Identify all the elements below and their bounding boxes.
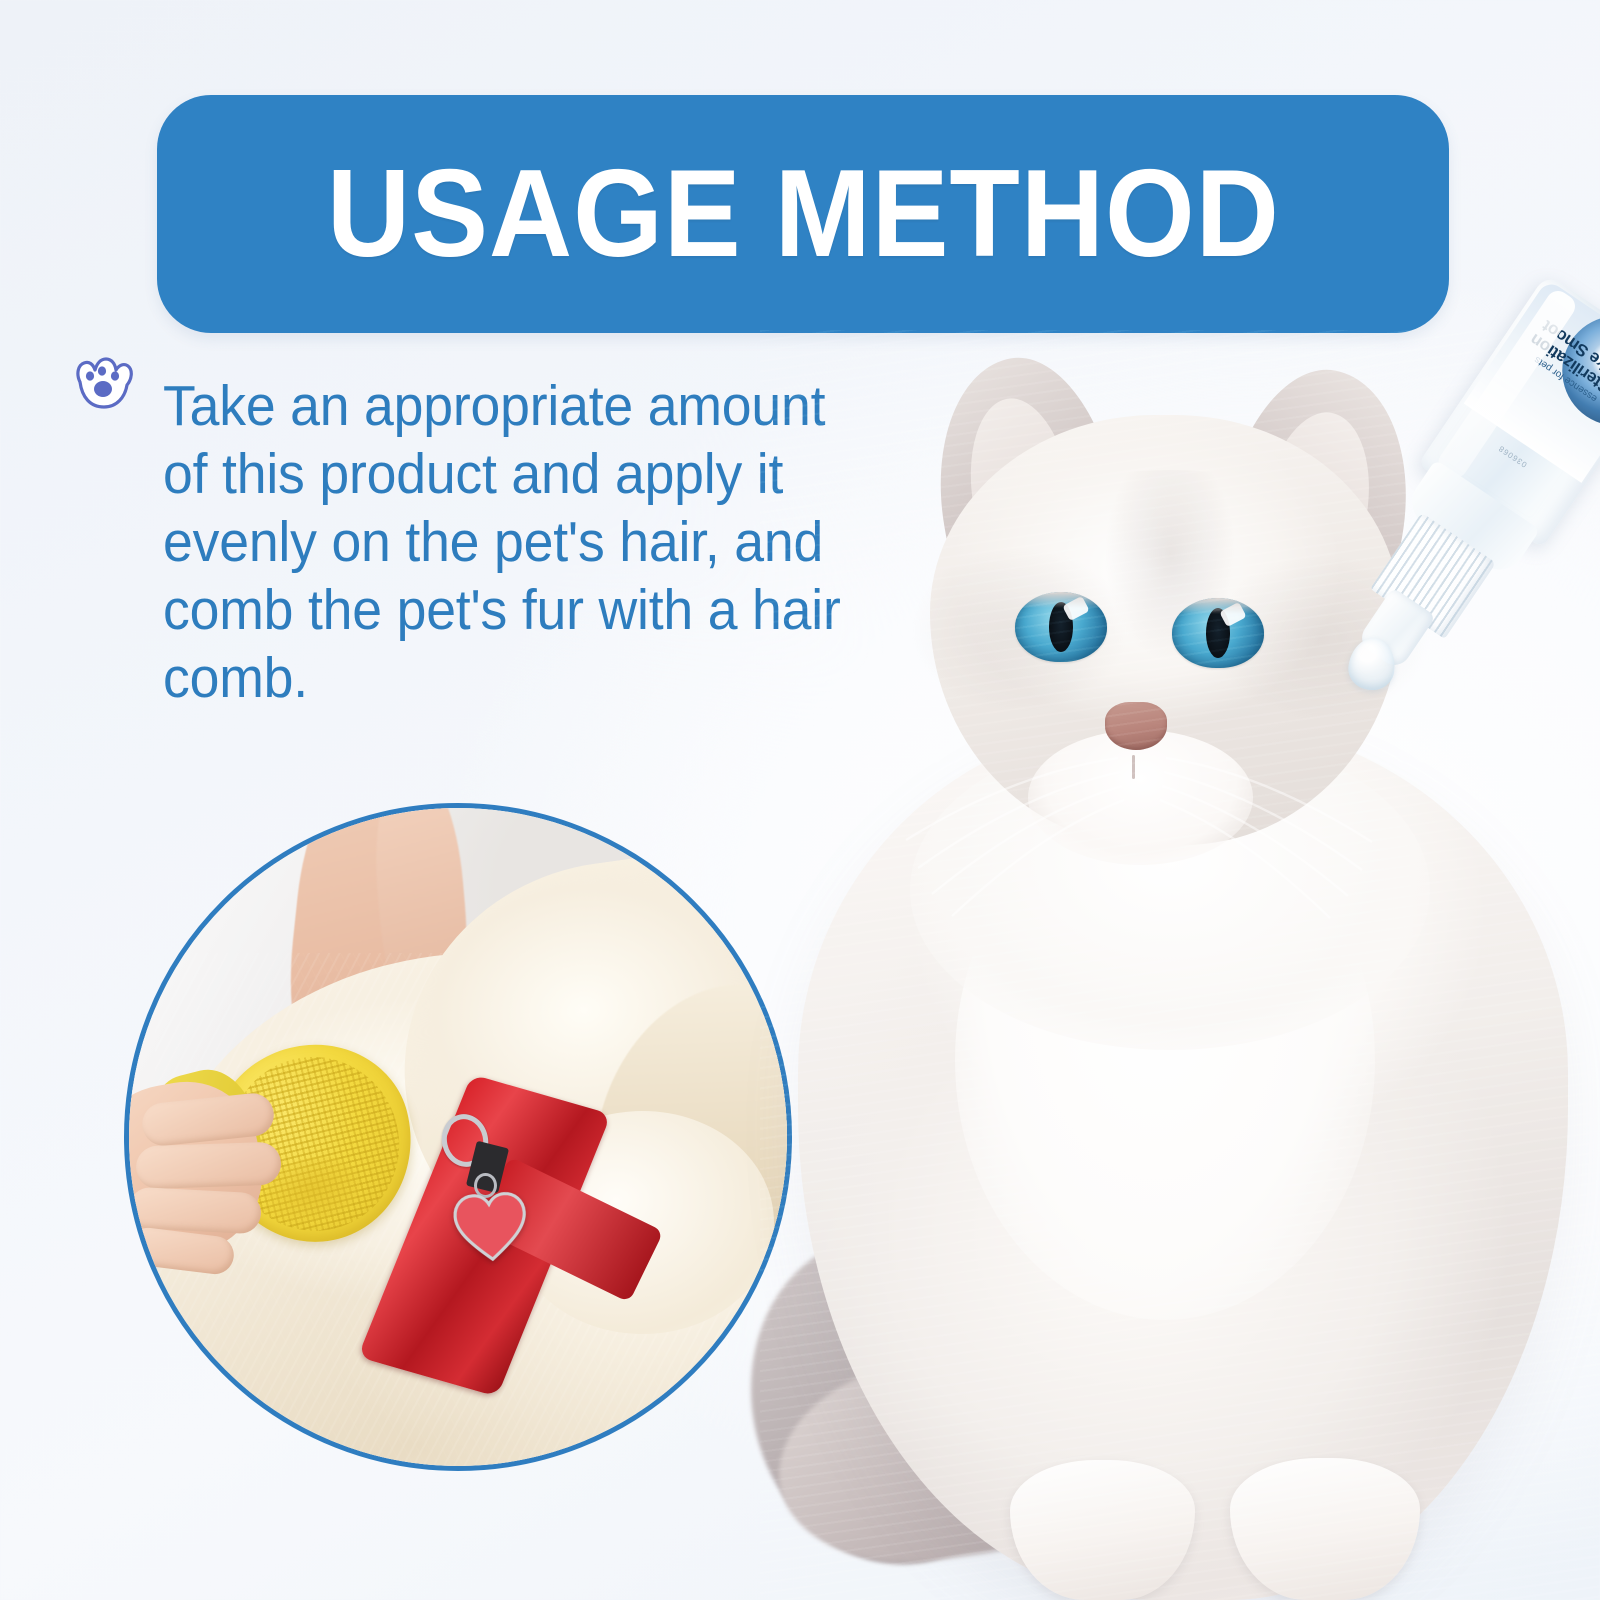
finger	[128, 1186, 262, 1234]
page-title: USAGE METHOD	[327, 152, 1280, 276]
photo-scene	[129, 808, 787, 1466]
heart-tag-icon	[449, 1187, 533, 1265]
infographic-canvas: USAGE METHOD Take an appropriate amount …	[0, 0, 1600, 1600]
paw-print-icon	[70, 352, 136, 414]
finger	[135, 1141, 281, 1189]
dog-grooming-photo	[124, 803, 792, 1471]
usage-method-banner: USAGE METHOD	[157, 95, 1449, 333]
